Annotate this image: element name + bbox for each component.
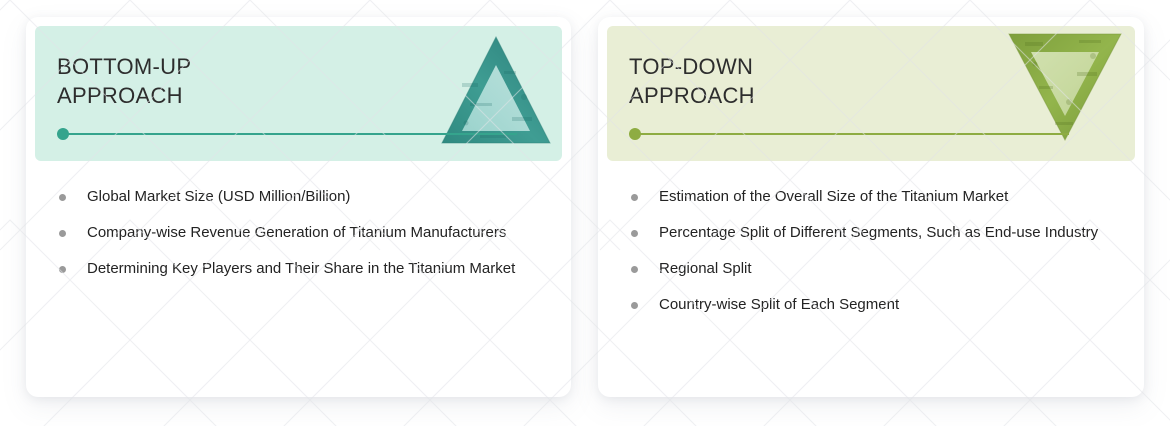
slide-stage: BOTTOM-UP APPROACH [0, 0, 1170, 426]
bullet-dot-icon [631, 302, 638, 309]
card-header-top-down: TOP-DOWN APPROACH [607, 26, 1135, 161]
list-item: Global Market Size (USD Million/Billion) [57, 187, 562, 207]
list-item: Regional Split [629, 259, 1135, 279]
bullet-dot-icon [59, 194, 66, 201]
list-item-label: Estimation of the Overall Size of the Ti… [659, 188, 1008, 205]
list-item: Country-wise Split of Each Segment [629, 295, 1135, 315]
bullet-dot-icon [59, 266, 66, 273]
card-top-down: TOP-DOWN APPROACH [598, 17, 1144, 397]
bullet-dot-icon [59, 230, 66, 237]
list-item-label: Determining Key Players and Their Share … [87, 260, 515, 277]
bullet-list-bottom-up: Global Market Size (USD Million/Billion)… [57, 187, 562, 279]
card-title-bottom-up: BOTTOM-UP APPROACH [57, 52, 191, 110]
list-item-label: Global Market Size (USD Million/Billion) [87, 188, 350, 205]
list-item: Estimation of the Overall Size of the Ti… [629, 187, 1135, 207]
list-item-label: Regional Split [659, 260, 752, 277]
bullet-dot-icon [631, 194, 638, 201]
card-header-bottom-up: BOTTOM-UP APPROACH [35, 26, 562, 161]
bullet-dot-icon [631, 230, 638, 237]
list-item-label: Country-wise Split of Each Segment [659, 296, 899, 313]
card-bottom-up: BOTTOM-UP APPROACH [26, 17, 571, 397]
accent-rule-bottom-up [57, 128, 517, 140]
list-item: Percentage Split of Different Segments, … [629, 223, 1135, 243]
accent-line [634, 133, 1069, 135]
bullet-list-top-down: Estimation of the Overall Size of the Ti… [629, 187, 1135, 315]
approach-card-group: BOTTOM-UP APPROACH [0, 0, 1170, 426]
list-item: Company-wise Revenue Generation of Titan… [57, 223, 562, 243]
card-title-top-down: TOP-DOWN APPROACH [629, 52, 755, 110]
bullet-dot-icon [631, 266, 638, 273]
list-item-label: Percentage Split of Different Segments, … [659, 224, 1098, 241]
list-item: Determining Key Players and Their Share … [57, 259, 562, 279]
accent-line [62, 133, 517, 135]
list-item-label: Company-wise Revenue Generation of Titan… [87, 224, 506, 241]
accent-rule-top-down [629, 128, 1069, 140]
